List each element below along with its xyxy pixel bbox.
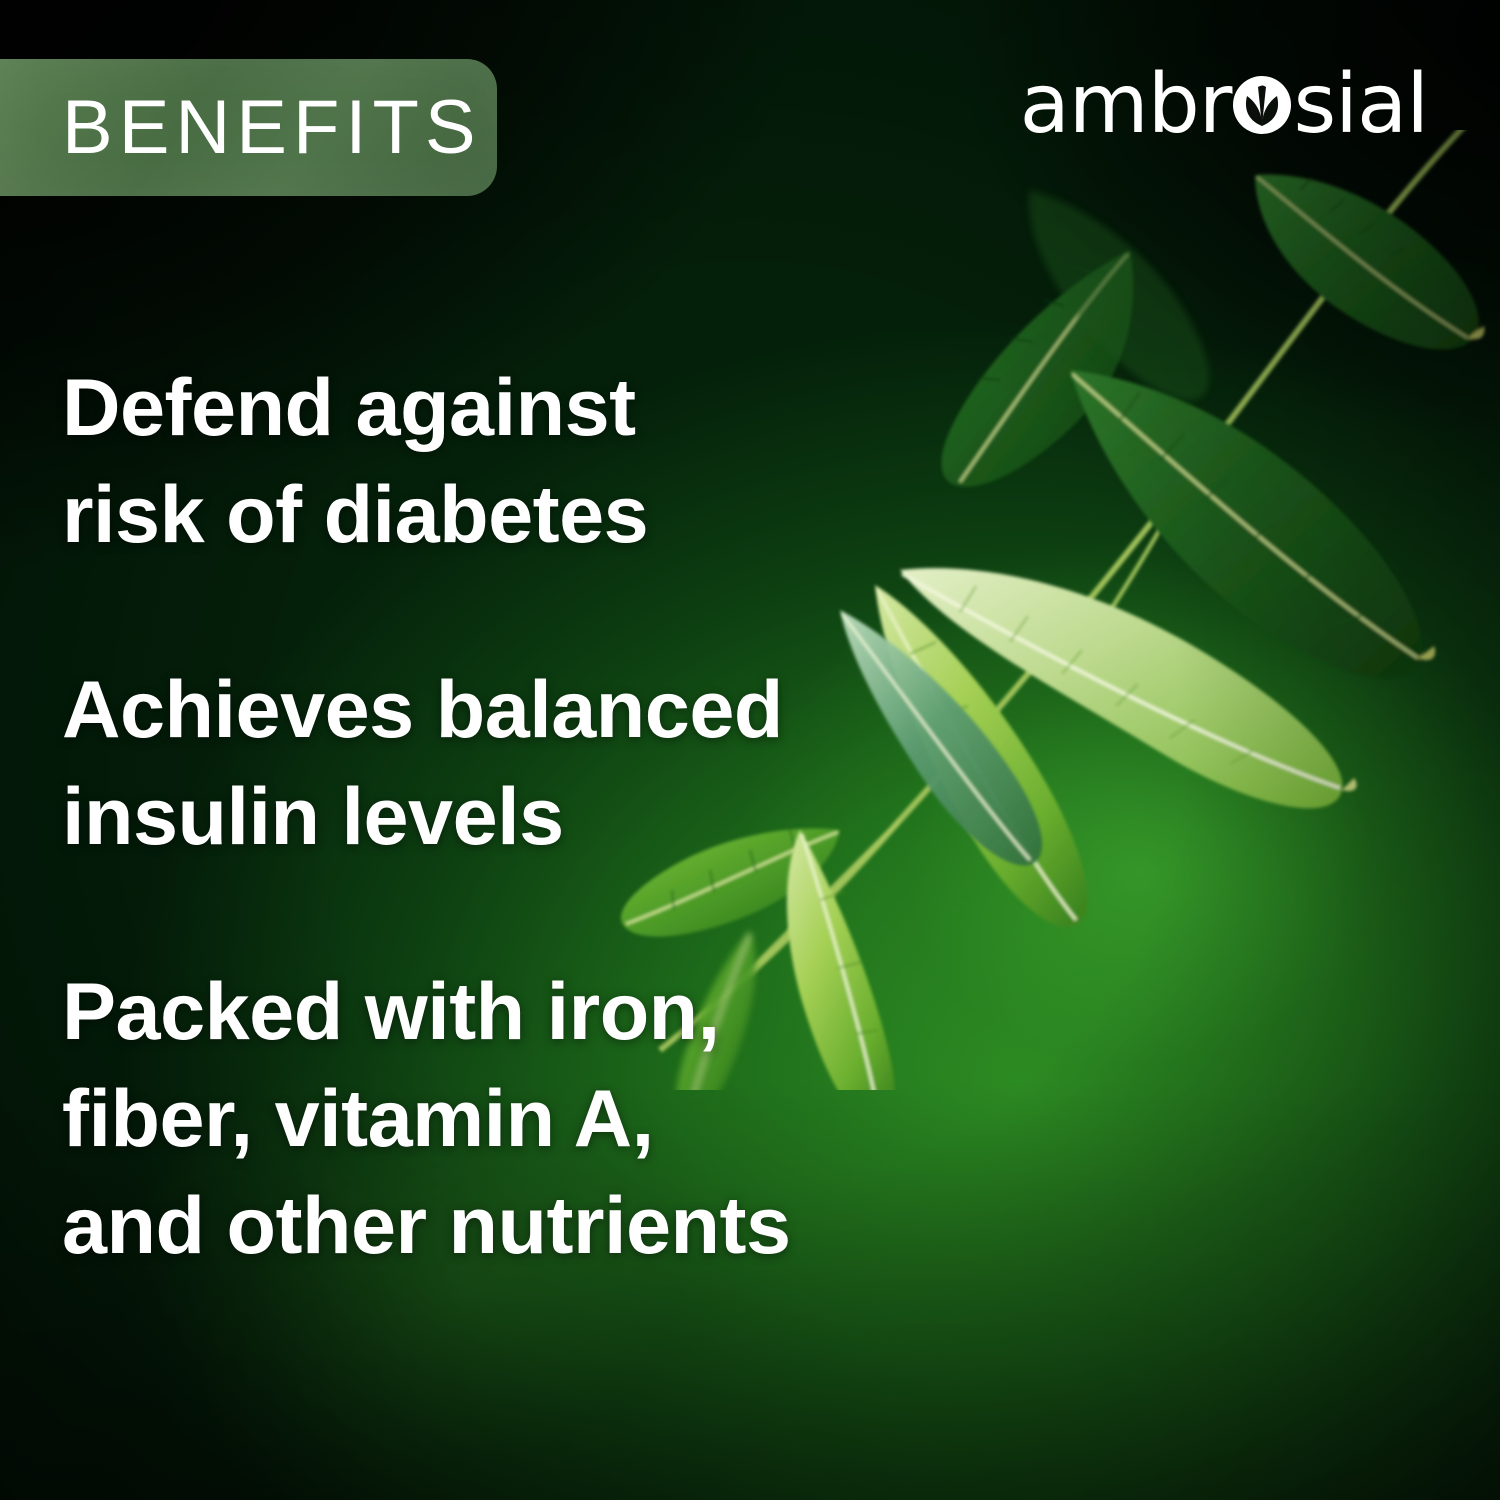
benefit-line: and other nutrients: [62, 1173, 882, 1280]
benefits-badge: BENEFITS: [0, 59, 497, 196]
benefit-line: risk of diabetes: [62, 462, 882, 569]
benefit-item-nutrients: Packed with iron, fiber, vitamin A, and …: [62, 959, 882, 1280]
benefit-line: Defend against: [62, 355, 882, 462]
leaf-circle-icon: [1232, 75, 1292, 135]
benefit-line: Achieves balanced: [62, 657, 882, 764]
benefit-line: fiber, vitamin A,: [62, 1066, 882, 1173]
brand-logo-suffix: sial: [1293, 64, 1428, 146]
benefits-poster: BENEFITS ambr sial Defend against risk o…: [0, 0, 1500, 1500]
benefit-item-diabetes: Defend against risk of diabetes: [62, 355, 882, 569]
benefit-line: insulin levels: [62, 764, 882, 871]
brand-logo-prefix: ambr: [1020, 64, 1232, 146]
benefit-line: Packed with iron,: [62, 959, 882, 1066]
benefits-list: Defend against risk of diabetes Achieves…: [62, 355, 882, 1280]
brand-logo-text: ambr sial: [1020, 64, 1428, 146]
benefits-badge-label: BENEFITS: [0, 90, 482, 166]
brand-logo: ambr sial: [1020, 62, 1428, 148]
benefit-item-insulin: Achieves balanced insulin levels: [62, 657, 882, 871]
